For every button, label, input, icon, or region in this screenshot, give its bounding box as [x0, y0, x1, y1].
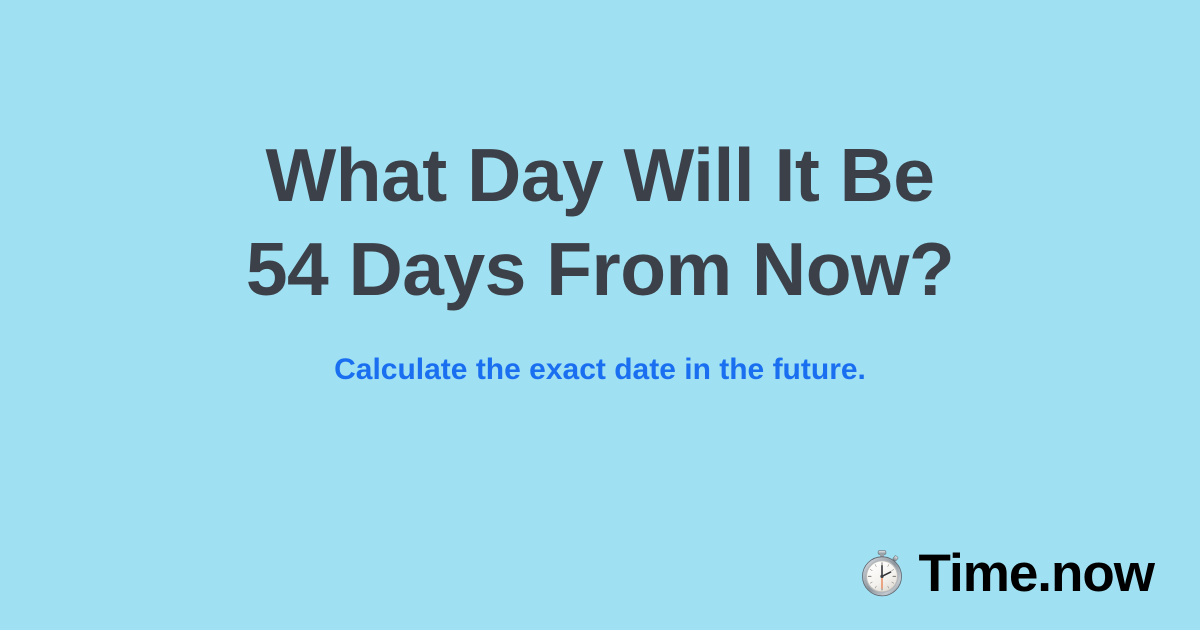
brand-name: Time.now: [919, 547, 1154, 600]
page-title-line-2: 54 Days From Now?: [246, 222, 954, 316]
page-title: What Day Will It Be 54 Days From Now?: [246, 128, 954, 316]
page-title-line-1: What Day Will It Be: [246, 128, 954, 222]
stopwatch-icon: [857, 549, 907, 599]
brand-logo: Time.now: [857, 547, 1154, 600]
page-subtitle: Calculate the exact date in the future.: [334, 352, 866, 388]
hero-text-block: What Day Will It Be 54 Days From Now? Ca…: [0, 128, 1200, 388]
open-graph-card: What Day Will It Be 54 Days From Now? Ca…: [0, 0, 1200, 630]
